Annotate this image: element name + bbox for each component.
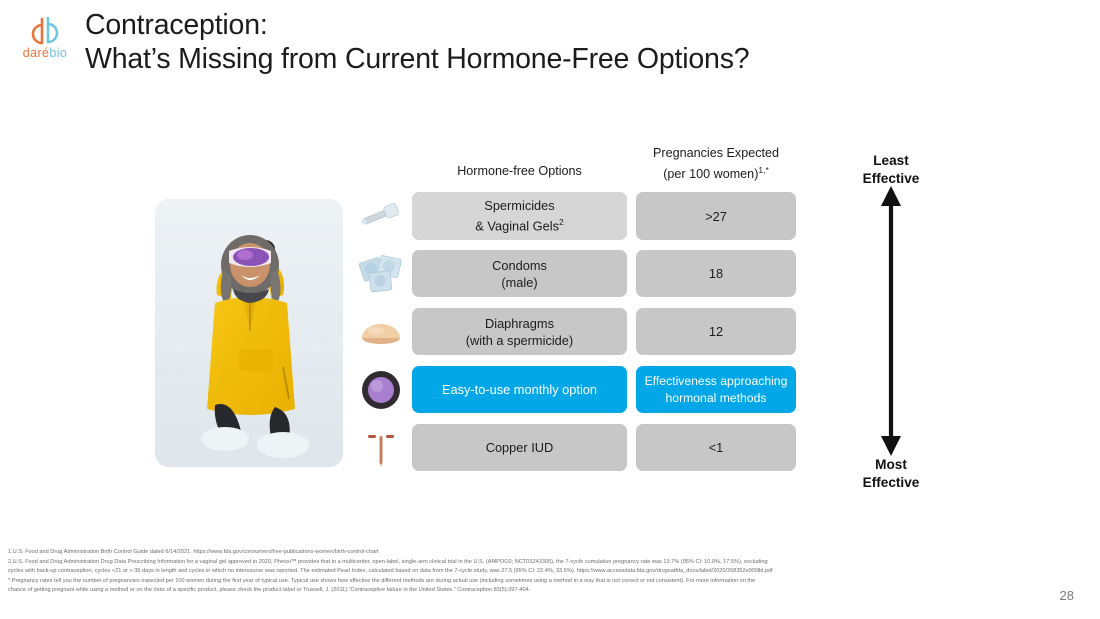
copper-iud-icon <box>359 428 403 468</box>
logo-wordmark: darébio <box>14 46 76 60</box>
title-line-1: Contraception: <box>85 9 268 41</box>
row-icon-applicator-gel <box>352 192 410 240</box>
column-header-options: Hormone-free Options <box>412 163 627 180</box>
spermicides-footnote-marker: 2 <box>559 217 564 227</box>
row-icon-vaginal-ring <box>352 366 410 413</box>
monthly-value-line-2: hormonal methods <box>666 391 767 405</box>
least-line-1: Least <box>873 153 909 168</box>
effectiveness-scale: Least Effective Most Effective <box>836 152 946 492</box>
pregnancies-line-1: Pregnancies Expected <box>653 146 779 160</box>
row-icon-diaphragm <box>352 308 410 355</box>
footnote-line-2: 2.U.S. Food and Drug Administration Drug… <box>8 558 1008 568</box>
row-name-copper-iud: Copper IUD <box>412 424 627 471</box>
row-icon-copper-iud <box>352 424 410 471</box>
row-name-monthly-option: Easy-to-use monthly option <box>412 366 627 413</box>
scale-label-most-effective: Most Effective <box>836 456 946 492</box>
footnote-line-5: chance of getting pregnant while using a… <box>8 586 1008 596</box>
dare-bio-monogram-icon <box>14 16 76 46</box>
double-arrow-icon <box>873 186 909 456</box>
row-name-spermicides: Spermicides& Vaginal Gels2 <box>412 192 627 240</box>
dare-bio-logo: darébio <box>14 16 76 64</box>
most-line-1: Most <box>875 457 907 472</box>
spermicides-line-1: Spermicides <box>484 198 554 213</box>
least-line-2: Effective <box>863 171 920 186</box>
row-name-condoms: Condoms(male) <box>412 250 627 297</box>
condom-packets-icon <box>357 254 405 294</box>
pregnancies-footnote-marker: 1,* <box>758 165 768 175</box>
column-header-pregnancies: Pregnancies Expected (per 100 women)1,* <box>636 145 796 183</box>
row-icon-condom-packets <box>352 250 410 297</box>
slide: darébio Contraception: What’s Missing fr… <box>0 0 1100 619</box>
row-value-spermicides: >27 <box>636 192 796 240</box>
hero-photo-woman-snow <box>155 199 343 467</box>
diaphragm-icon <box>357 314 405 350</box>
footnote-line-3: cycles with back-up contraception, cycle… <box>8 567 1008 577</box>
page-number: 28 <box>1060 588 1074 603</box>
row-value-monthly-option: Effectiveness approachinghormonal method… <box>636 366 796 413</box>
footnotes: 1.U.S. Food and Drug Administration Birt… <box>8 548 1008 596</box>
footnote-line-1: 1.U.S. Food and Drug Administration Birt… <box>8 548 1008 558</box>
page-title: Contraception: What’s Missing from Curre… <box>85 8 985 76</box>
diaphragms-line-1: Diaphragms <box>485 316 554 331</box>
row-value-diaphragms: 12 <box>636 308 796 355</box>
spermicides-line-2: & Vaginal Gels <box>475 219 559 234</box>
monthly-value-line-1: Effectiveness approaching <box>645 374 788 388</box>
most-line-2: Effective <box>863 475 920 490</box>
row-value-copper-iud: <1 <box>636 424 796 471</box>
diaphragms-line-2: (with a spermicide) <box>466 333 573 348</box>
vaginal-ring-icon <box>359 368 403 412</box>
condoms-line-2: (male) <box>501 275 537 290</box>
row-name-diaphragms: Diaphragms(with a spermicide) <box>412 308 627 355</box>
logo-word-dare: daré <box>23 46 50 60</box>
footnote-line-4: * Pregnancy rates tell you the number of… <box>8 577 1008 587</box>
scale-label-least-effective: Least Effective <box>836 152 946 188</box>
applicator-gel-icon <box>357 199 405 233</box>
pregnancies-line-2: (per 100 women) <box>663 167 758 181</box>
title-line-2: What’s Missing from Current Hormone-Free… <box>85 42 985 76</box>
row-value-condoms: 18 <box>636 250 796 297</box>
condoms-line-1: Condoms <box>492 258 547 273</box>
logo-word-bio: bio <box>49 46 67 60</box>
